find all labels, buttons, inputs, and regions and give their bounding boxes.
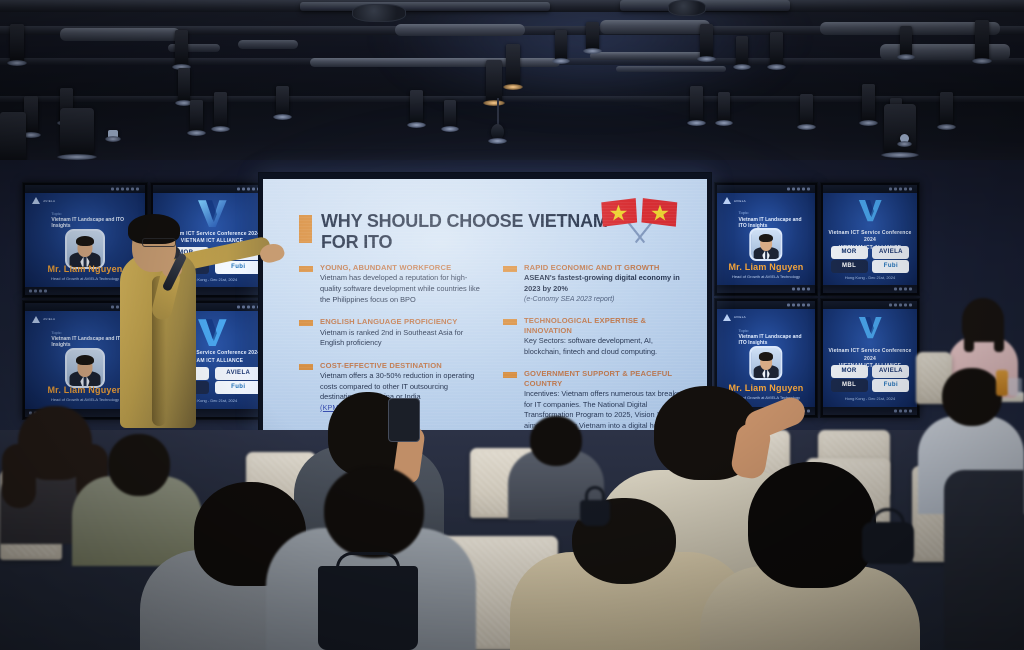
aviela-logo-icon: AVIELA [723, 314, 746, 321]
handbag [318, 566, 418, 650]
aviela-logo-icon: AVIELA [723, 197, 746, 204]
bullet-block: YOUNG, ABUNDANT WORKFORCE Vietnam has de… [299, 263, 485, 305]
speaker-avatar [65, 229, 105, 269]
sponsor-logo-mbl: MBL [831, 379, 868, 392]
sponsor-logo-grid: MOR AVIELA MBL Fubi [831, 246, 910, 272]
ceiling [0, 0, 1024, 175]
aviela-logo-icon: AVIELA [32, 197, 55, 204]
topic-label: Topic: [739, 210, 749, 215]
sponsor-logo-aviela: AVIELA [872, 365, 909, 378]
audience-member [944, 470, 1024, 650]
monitor-right-top-speaker[interactable]: AVIELA Topic: Vietnam IT Landscape and I… [714, 182, 818, 296]
monitor-right-bottom-alliance[interactable]: Vietnam ICT Service Conference 2024 VIET… [820, 298, 920, 418]
monitor-right-top-alliance[interactable]: Vietnam ICT Service Conference 2024 VIET… [820, 182, 920, 296]
conference-name: Vietnam ICT Service Conference 2024 [827, 348, 914, 363]
sponsor-logo-fubi: Fubi [872, 260, 909, 273]
topic-text: Vietnam IT Landscape and ITO Insights [739, 334, 808, 346]
bullet-heading: GOVERNMENT SUPPORT & PEACEFUL COUNTRY [524, 369, 689, 388]
topic-label: Topic: [51, 211, 61, 216]
event-date: Hong Kong - Dec 21st, 2024 [823, 396, 917, 401]
conference-photo: AVIELA Topic: Vietnam IT Landscape and I… [0, 0, 1024, 650]
topic-label: Topic: [739, 328, 749, 333]
bullet-chip-icon [299, 320, 313, 326]
bullet-body: ASEAN's fastest-growing digital economy … [524, 273, 680, 293]
bullet-heading: ENGLISH LANGUAGE PROFICIENCY [320, 317, 458, 326]
event-date: Hong Kong - Dec 21st, 2024 [823, 275, 917, 280]
bullet-heading: COST-EFFECTIVE DESTINATION [320, 361, 442, 370]
sponsor-logo-grid: MOR AVIELA MBL Fubi [831, 365, 910, 391]
bullet-source: (e-Conomy SEA 2023 report) [503, 295, 689, 305]
alliance-v-logo-icon [197, 199, 228, 228]
speaker-avatar [65, 348, 105, 388]
conference-name: Vietnam ICT Service Conference 2024 [827, 230, 914, 245]
slide-title: WHY SHOULD CHOOSE VIETNAM FOR ITO [321, 211, 621, 253]
aviela-logo-icon: AVIELA [32, 316, 55, 323]
title-accent-bar [299, 215, 312, 243]
bullet-body: Vietnam is ranked 2nd in Southeast Asia … [299, 328, 485, 349]
bullet-block: TECHNOLOGICAL EXPERTISE & INNOVATION Key… [503, 316, 689, 357]
bullet-block: ENGLISH LANGUAGE PROFICIENCY Vietnam is … [299, 317, 485, 349]
vietnam-flag-icon [597, 195, 683, 247]
sponsor-logo-mor: MOR [831, 365, 868, 378]
bullet-block: RAPID ECONOMIC AND IT GROWTH ASEAN's fas… [503, 263, 689, 304]
bullet-chip-icon [299, 266, 313, 272]
speaker-name: Mr. Liam Nguyen [717, 262, 815, 272]
bottle [996, 370, 1008, 396]
handbag [580, 500, 610, 526]
glasses-icon [142, 238, 176, 247]
bullet-chip-icon [503, 266, 517, 272]
speaker-avatar [749, 228, 782, 261]
phone-icon [388, 398, 420, 442]
speaker-role: Head of Growth at AVIELA Technology [717, 274, 815, 279]
sponsor-logo-fubi: Fubi [872, 379, 909, 392]
camera-bag [862, 522, 914, 564]
bullet-chip-icon [299, 364, 313, 370]
alliance-v-logo-icon [858, 199, 882, 222]
speaker-avatar [749, 346, 782, 379]
bullet-body: Key Sectors: software development, AI, b… [503, 336, 689, 357]
topic-label: Topic: [51, 330, 61, 335]
bullet-heading: TECHNOLOGICAL EXPERTISE & INNOVATION [524, 316, 689, 335]
bullet-body: Vietnam has developed a reputation for h… [299, 273, 485, 305]
cup [1008, 378, 1022, 396]
bullet-chip-icon [503, 372, 517, 378]
sponsor-logo-mbl: MBL [831, 260, 868, 273]
presenter [112, 228, 282, 428]
bullet-chip-icon [503, 319, 517, 325]
bullet-heading: YOUNG, ABUNDANT WORKFORCE [320, 263, 451, 272]
alliance-v-logo-icon [858, 316, 882, 339]
bullet-heading: RAPID ECONOMIC AND IT GROWTH [524, 263, 660, 272]
sponsor-logo-mor: MOR [831, 246, 868, 259]
sponsor-logo-aviela: AVIELA [872, 246, 909, 259]
